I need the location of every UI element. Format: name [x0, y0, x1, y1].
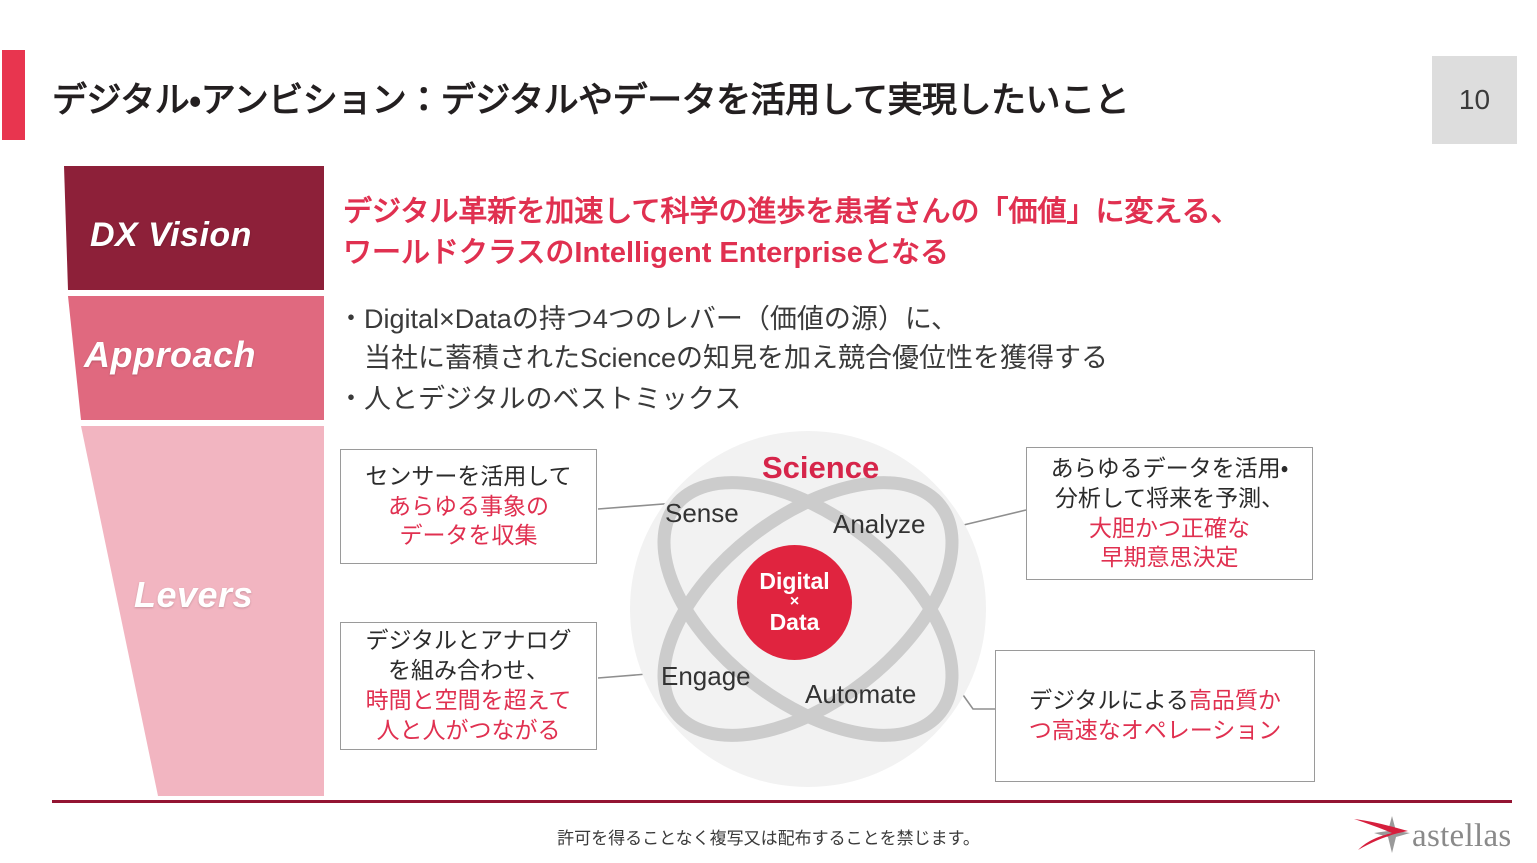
bullet-glyph: ・ [338, 300, 364, 338]
page-number-value: 10 [1432, 56, 1517, 144]
approach-bullets: ・ Digital×Dataの持つ4つのレバー（価値の源）に、 当社に蓄積された… [338, 300, 1338, 421]
science-label: Science [762, 450, 879, 486]
footer-copyright-note: 許可を得ることなく複写又は配布することを禁じます。 [0, 824, 1537, 849]
atom-core: Digital × Data [737, 545, 852, 660]
callout-sense: センサーを活用して あらゆる事象の データを収集 [340, 449, 597, 564]
callout-automate-line-1-red: 高品質か [1189, 687, 1281, 713]
callout-sense-line-1: センサーを活用して [365, 462, 571, 492]
slide-root: デジタル・アンビション：デジタルやデータを活用して実現したいこと 10 DX V… [0, 0, 1537, 863]
vision-line-1: デジタル革新を加速して科学の進歩を患者さんの「価値」に変える、 [343, 192, 1323, 233]
callout-analyze-line-2: 分析して将来を予測、 [1055, 484, 1284, 514]
callout-analyze: あらゆるデータを活用・ 分析して将来を予測、 大胆かつ正確な 早期意思決定 [1026, 447, 1313, 580]
callout-automate-line-1: デジタルによる高品質か [1029, 686, 1281, 716]
funnel-shapes [62, 166, 332, 796]
callout-analyze-line-1: あらゆるデータを活用・ [1051, 454, 1289, 484]
lever-label-analyze: Analyze [833, 509, 926, 540]
callout-engage-line-4: 人と人がつながる [377, 716, 561, 746]
callout-engage-line-3: 時間と空間を超えて [366, 686, 572, 716]
callout-sense-line-3: データを収集 [400, 521, 538, 551]
approach-bullet-2: ・ 人とデジタルのベストミックス [338, 380, 1338, 419]
astellas-wordmark: astellas [1412, 818, 1512, 855]
approach-1-line-1: Digital×Dataの持つ4つのレバー（価値の源）に、 [364, 300, 1338, 339]
core-line-3: Data [770, 611, 820, 635]
bullet-glyph: ・ [338, 380, 364, 418]
approach-label: Approach [84, 334, 256, 376]
callout-sense-line-2: あらゆる事象の [388, 492, 549, 522]
title-accent-bar [2, 50, 25, 140]
dx-vision-label: DX Vision [90, 216, 252, 255]
callout-engage-line-2: を組み合わせ、 [388, 656, 549, 686]
funnel-group: DX Vision Approach Levers [62, 166, 332, 796]
core-line-1: Digital [759, 570, 829, 594]
callout-analyze-line-3: 大胆かつ正確な [1089, 514, 1250, 544]
approach-1-line-2: 当社に蓄積されたScienceの知見を加え競合優位性を獲得する [364, 339, 1338, 378]
callout-automate-line-1-black: デジタルによる [1029, 687, 1189, 713]
callout-engage: デジタルとアナログ を組み合わせ、 時間と空間を超えて 人と人がつながる [340, 622, 597, 750]
callout-engage-line-1: デジタルとアナログ [365, 626, 571, 656]
vision-line-2: ワールドクラスのIntelligent Enterpriseとなる [343, 233, 1323, 274]
callout-analyze-line-4: 早期意思決定 [1101, 543, 1239, 573]
vision-statement: デジタル革新を加速して科学の進歩を患者さんの「価値」に変える、 ワールドクラスの… [343, 192, 1323, 274]
callout-automate: デジタルによる高品質か つ高速なオペレーション [995, 650, 1315, 782]
approach-2-line-1: 人とデジタルのベストミックス [364, 380, 1338, 419]
levers-label: Levers [134, 574, 253, 616]
lever-label-engage: Engage [661, 661, 751, 692]
page-title: デジタル・アンビション：デジタルやデータを活用して実現したいこと [52, 72, 1129, 123]
approach-bullet-1: ・ Digital×Dataの持つ4つのレバー（価値の源）に、 当社に蓄積された… [338, 300, 1338, 378]
astellas-logo: astellas [1352, 812, 1522, 858]
lever-label-automate: Automate [805, 679, 916, 710]
lever-label-sense: Sense [665, 498, 739, 529]
page-number-badge: 10 [1432, 56, 1517, 144]
footer-divider [52, 800, 1512, 803]
callout-automate-line-2: つ高速なオペレーション [1029, 716, 1282, 746]
